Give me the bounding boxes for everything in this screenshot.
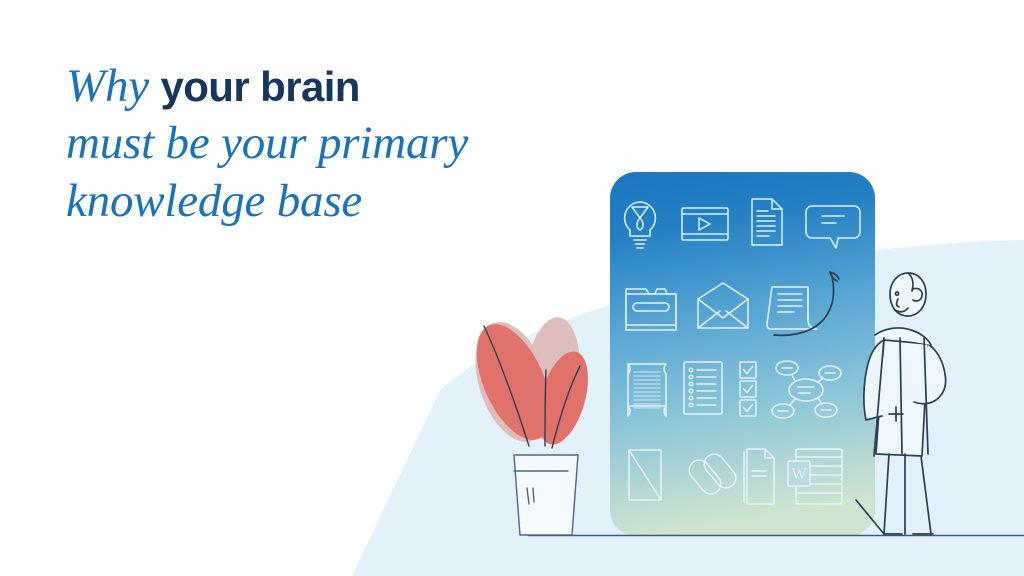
potted-plant (461, 313, 597, 535)
page-title: Why your brain must be your primary know… (66, 58, 586, 230)
headline-line-2: must be your primary (66, 115, 586, 172)
word-badge-letter: W (791, 466, 807, 483)
headline-line-1: Why your brain (66, 58, 586, 115)
headline-your-brain: your brain (160, 63, 359, 110)
headline-why: Why (66, 60, 160, 112)
headline-line-3: knowledge base (66, 173, 586, 230)
knowledge-board: W (610, 172, 875, 536)
slide-canvas: W (0, 0, 1024, 576)
pot-body (514, 455, 578, 535)
